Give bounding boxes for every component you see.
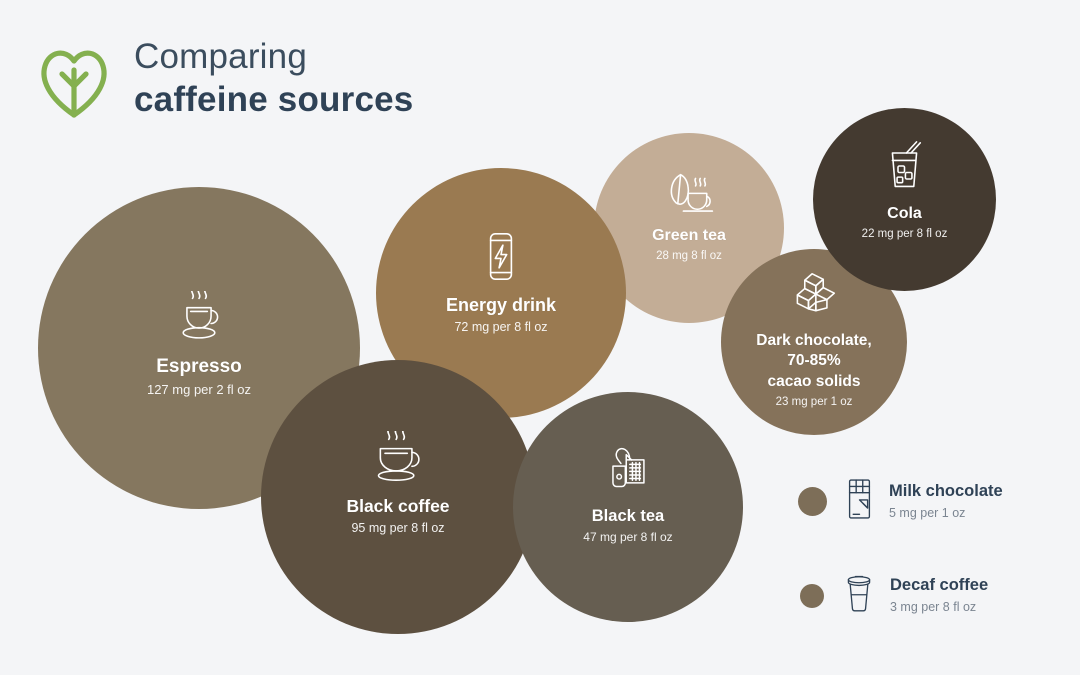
bubble-black-coffee[interactable]: Black coffee 95 mg per 8 fl oz (261, 360, 535, 634)
bubble-label-line-2: 70-85% (787, 352, 840, 370)
legend-label: Decaf coffee (890, 576, 988, 596)
bubble-value: 72 mg per 8 fl oz (454, 320, 547, 335)
bubble-value: 28 mg 8 fl oz (656, 250, 722, 264)
bubble-label: Black coffee (346, 496, 449, 517)
leaf-heart-logo-icon (38, 42, 110, 120)
tea-bag-icon (605, 440, 651, 499)
title-line-2: caffeine sources (134, 79, 413, 122)
bubble-label: Energy drink (446, 295, 556, 316)
chocolate-chunks-icon (788, 271, 840, 324)
togo-cup-icon (844, 573, 874, 618)
page-title: Comparing caffeine sources (134, 36, 413, 121)
bubble-label: Espresso (156, 356, 242, 378)
cola-glass-icon (882, 140, 927, 197)
legend-label: Milk chocolate (889, 482, 1003, 502)
bubble-value: 127 mg per 2 fl oz (147, 382, 251, 398)
bubble-label-line-1: Dark chocolate, (756, 332, 871, 350)
bubble-label: Black tea (592, 507, 664, 526)
legend: Milk chocolate 5 mg per 1 oz Decaf coffe… (798, 478, 1003, 666)
legend-value: 3 mg per 8 fl oz (890, 600, 988, 615)
coffee-cup-icon (370, 431, 426, 488)
espresso-cup-icon (173, 291, 225, 348)
bubble-black-tea[interactable]: Black tea 47 mg per 8 fl oz (513, 392, 743, 622)
bubble-label-line-3: cacao solids (767, 373, 860, 391)
chocolate-bar-icon (846, 478, 873, 525)
legend-text: Decaf coffee 3 mg per 8 fl oz (890, 576, 988, 616)
legend-item-milk-chocolate[interactable]: Milk chocolate 5 mg per 1 oz (798, 478, 1003, 525)
bubble-value: 47 mg per 8 fl oz (583, 530, 672, 544)
bubble-value: 23 mg per 1 oz (776, 396, 853, 410)
legend-dot (798, 487, 827, 516)
legend-dot (800, 584, 824, 608)
leaf-teacup-icon (661, 169, 717, 219)
bubble-value: 22 mg per 8 fl oz (862, 228, 948, 242)
legend-value: 5 mg per 1 oz (889, 506, 1003, 521)
energy-can-icon (482, 231, 520, 287)
title-line-1: Comparing (134, 36, 413, 79)
bubble-value: 95 mg per 8 fl oz (351, 521, 444, 536)
legend-item-decaf-coffee[interactable]: Decaf coffee 3 mg per 8 fl oz (798, 573, 1003, 618)
header: Comparing caffeine sources (38, 36, 413, 121)
bubble-label: Green tea (652, 227, 726, 246)
bubble-label: Cola (887, 205, 922, 224)
legend-text: Milk chocolate 5 mg per 1 oz (889, 482, 1003, 522)
bubble-cola[interactable]: Cola 22 mg per 8 fl oz (813, 108, 996, 291)
